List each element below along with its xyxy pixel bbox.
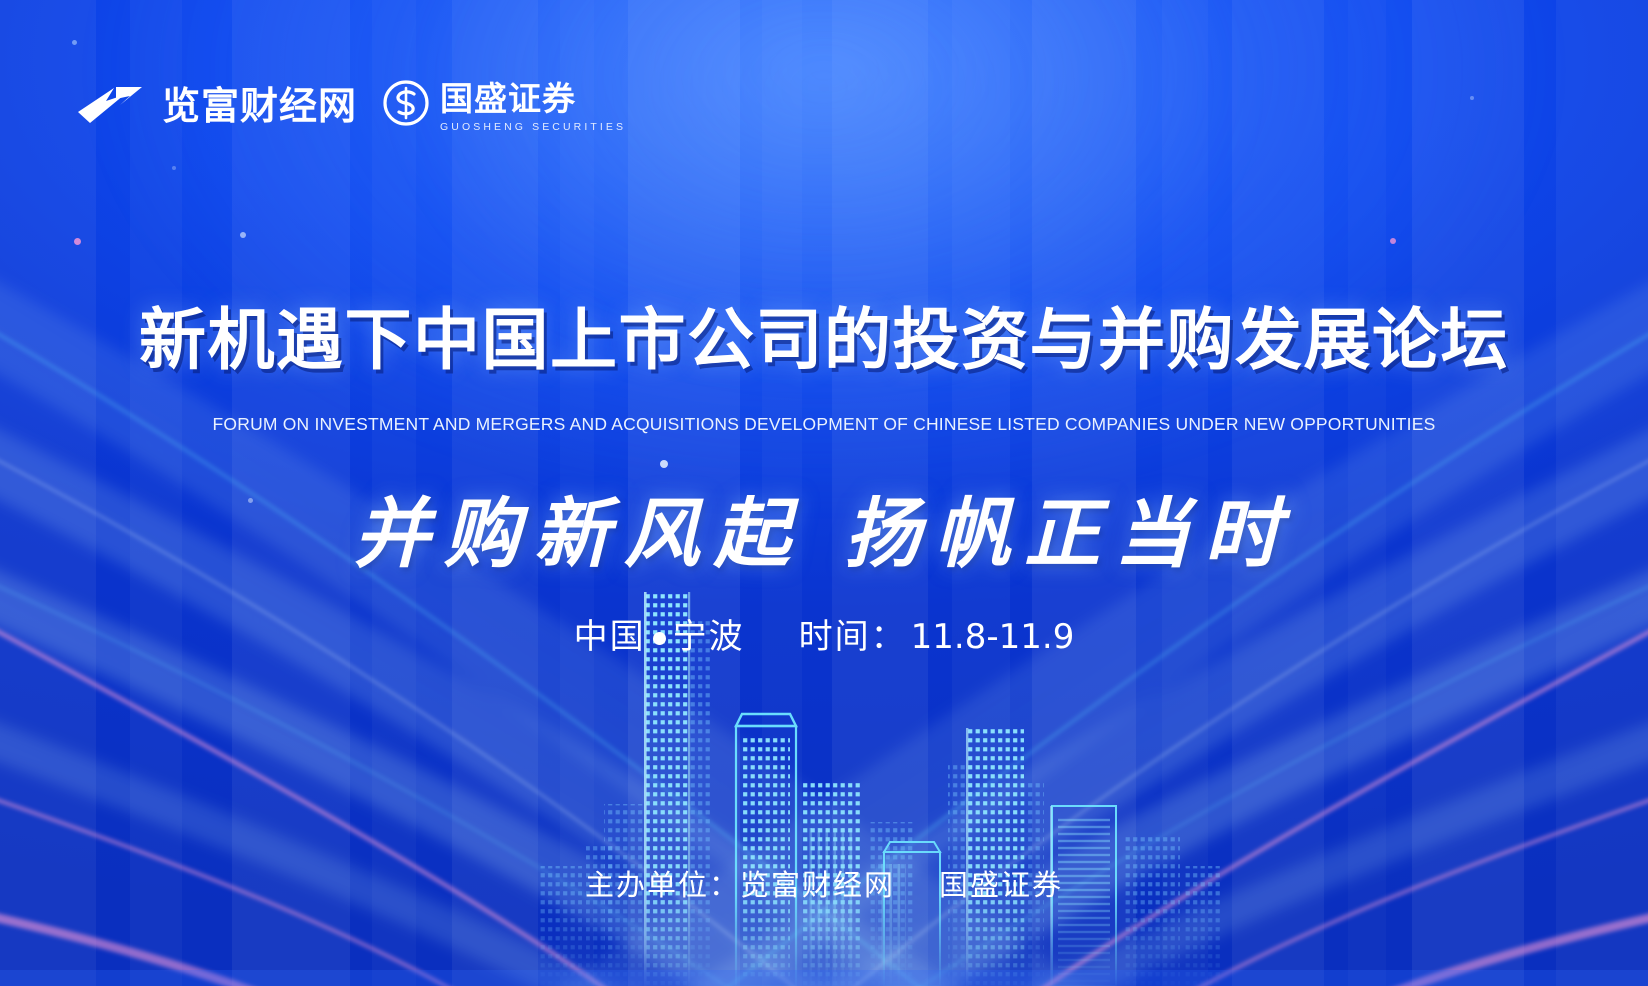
logo-guosheng[interactable]: 国盛证券 GUOSHENG SECURITIES bbox=[383, 72, 626, 133]
poster-content: 览富财经网 国盛证券 GUOSHENG SECURITIES 新机遇下中国上市公… bbox=[0, 0, 1648, 986]
forum-subtitle-en: FORUM ON INVESTMENT AND MERGERS AND ACQU… bbox=[0, 414, 1648, 435]
logo-lanfu-label: 览富财经网 bbox=[162, 75, 357, 130]
lanfu-arrow-mark bbox=[76, 81, 150, 125]
venue-date-row: 中国 宁波 时间： 11.8-11.9 bbox=[0, 609, 1648, 658]
logo-guosheng-label-cn: 国盛证券 bbox=[440, 72, 576, 120]
date-block: 时间： 11.8-11.9 bbox=[799, 609, 1075, 658]
venue-country: 中国 bbox=[574, 609, 646, 658]
guosheng-circle-s-mark bbox=[383, 80, 429, 126]
organizer-name-1: 览富财经网 bbox=[740, 862, 895, 904]
venue-city: 宁波 bbox=[673, 609, 745, 658]
organizer-label: 主办单位： bbox=[585, 862, 740, 904]
organizer-name-2: 国盛证券 bbox=[939, 862, 1063, 904]
date-value: 11.8-11.9 bbox=[911, 617, 1075, 657]
logo-bar: 览富财经网 国盛证券 GUOSHENG SECURITIES bbox=[76, 72, 626, 133]
poster-canvas: 览富财经网 国盛证券 GUOSHENG SECURITIES 新机遇下中国上市公… bbox=[0, 0, 1648, 986]
forum-title: 新机遇下中国上市公司的投资与并购发展论坛 bbox=[0, 286, 1648, 383]
date-label: 时间： bbox=[799, 609, 907, 658]
organizer-row: 主办单位： 览富财经网 国盛证券 bbox=[0, 862, 1648, 904]
forum-slogan: 并购新风起 扬帆正当时 bbox=[0, 472, 1648, 582]
bullet-dot-icon bbox=[653, 632, 666, 645]
venue-block: 中国 宁波 bbox=[574, 609, 745, 658]
logo-guosheng-label-en: GUOSHENG SECURITIES bbox=[440, 121, 626, 133]
logo-guosheng-text: 国盛证券 GUOSHENG SECURITIES bbox=[440, 72, 626, 133]
logo-lanfu[interactable]: 览富财经网 bbox=[76, 75, 357, 130]
